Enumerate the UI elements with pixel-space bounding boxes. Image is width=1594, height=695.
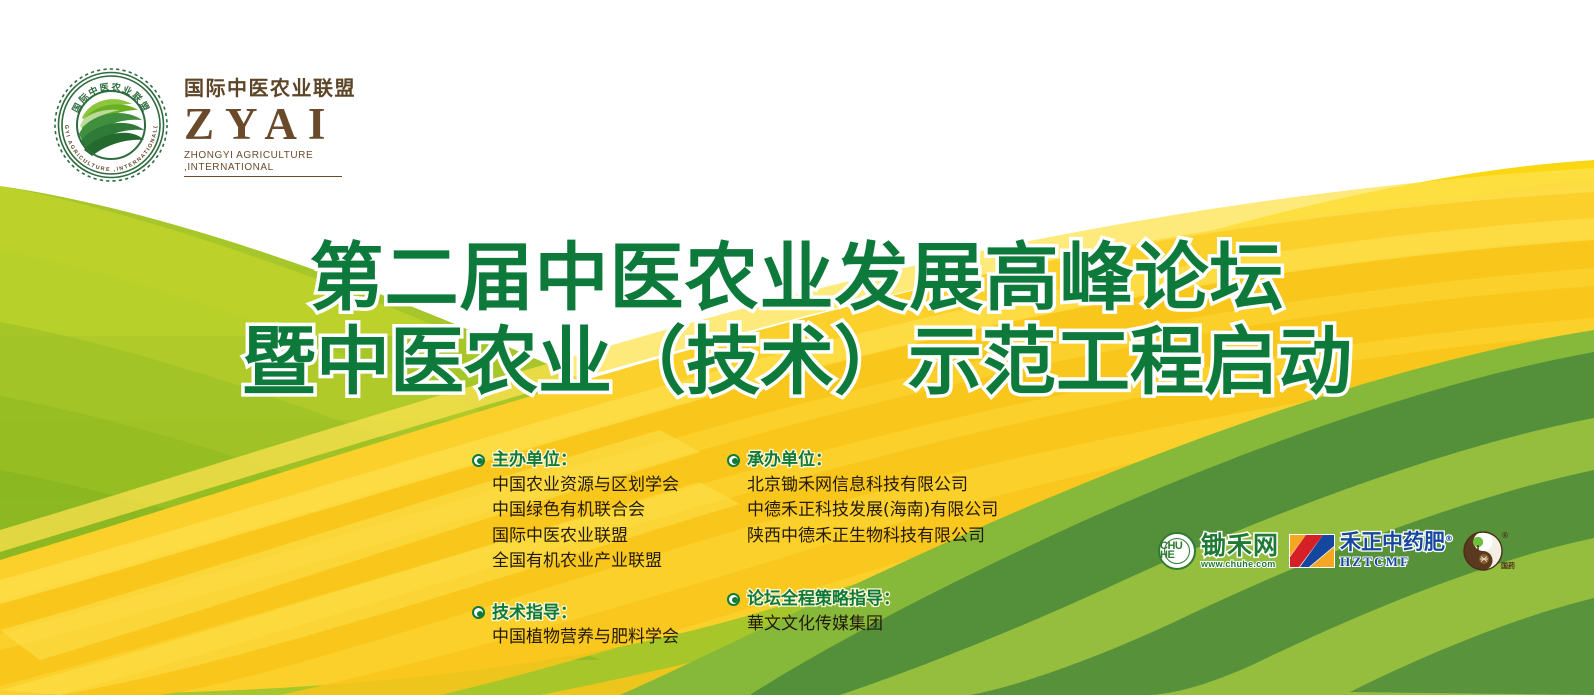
info-item: 中国绿色有机联合会 [492, 498, 679, 524]
chuhe-name-cn: 锄禾网 [1201, 533, 1279, 558]
chuhe-seal-icon: CHU HE [1158, 532, 1196, 570]
spacer [727, 563, 998, 575]
bullet-icon [727, 593, 740, 606]
info-heading-text: 承办单位： [747, 448, 832, 473]
logo-name-en: ZHONGYI AGRICULTURE ,INTERNATIONAL [184, 150, 342, 177]
info-item: 北京锄禾网信息科技有限公司 [747, 473, 998, 499]
hztcmf-cn-text: 禾正中药肥 [1340, 530, 1445, 554]
bullet-icon [727, 454, 740, 467]
event-banner: 国际中医农业联盟 ZHONGYI AGRICULTURE ,INTERNATIO… [0, 0, 1594, 695]
bullet-icon [472, 454, 485, 467]
info-item: 華文文化传媒集团 [747, 612, 998, 638]
chuhe-seal-letters: CHU HE [1160, 534, 1194, 568]
info-heading-text: 技术指导： [492, 601, 577, 626]
hztcmf-mark-icon [1289, 534, 1335, 568]
sponsor-hztcmf: 禾正中药肥® HZTCMF [1289, 532, 1453, 570]
hztcmf-name-cn: 禾正中药肥® [1340, 532, 1453, 553]
info-group-heading: 技术指导： [472, 601, 679, 626]
chuhe-url: www.chuhe.com [1201, 559, 1279, 569]
info-group: 承办单位： 北京锄禾网信息科技有限公司 中德禾正科技发展(海南)有限公司 陕西中… [727, 448, 998, 549]
info-item: 中国植物营养与肥料学会 [492, 625, 679, 651]
info-heading-text: 论坛全程策略指导： [747, 587, 900, 612]
info-item: 国际中医农业联盟 [492, 524, 679, 550]
info-group-heading: 承办单位： [727, 448, 998, 473]
info-group-heading: 论坛全程策略指导： [727, 587, 998, 612]
logo-wordmark: 国际中医农业联盟 ZYAI ZHONGYI AGRICULTURE ,INTER… [184, 74, 356, 177]
sponsor-chuhe: CHU HE 锄禾网 www.chuhe.com [1158, 532, 1279, 570]
tree-seal-tag: 国药 [1501, 561, 1515, 571]
info-column-right: 承办单位： 北京锄禾网信息科技有限公司 中德禾正科技发展(海南)有限公司 陕西中… [727, 448, 998, 651]
info-column-left: 主办单位： 中国农业资源与区划学会 中国绿色有机联合会 国际中医农业联盟 全国有… [472, 448, 679, 651]
info-item: 中国农业资源与区划学会 [492, 473, 679, 499]
chuhe-wordmark: 锄禾网 www.chuhe.com [1201, 533, 1279, 569]
logo-name-cn: 国际中医农业联盟 [184, 78, 356, 100]
bullet-icon [472, 606, 485, 619]
spacer [727, 575, 998, 587]
info-item: 中德禾正科技发展(海南)有限公司 [747, 498, 998, 524]
info-group: 主办单位： 中国农业资源与区划学会 中国绿色有机联合会 国际中医农业联盟 全国有… [472, 448, 679, 575]
registered-mark: ® [1445, 534, 1453, 543]
organizer-info: 主办单位： 中国农业资源与区划学会 中国绿色有机联合会 国际中医农业联盟 全国有… [472, 448, 998, 651]
info-group-heading: 主办单位： [472, 448, 679, 473]
zyai-seal-icon: 国际中医农业联盟 ZHONGYI AGRICULTURE ,INTERNATIO… [52, 66, 170, 184]
sponsor-tree-seal: ® 国药 [1463, 531, 1503, 571]
registered-mark: ® [1502, 531, 1508, 540]
info-item: 陕西中德禾正生物科技有限公司 [747, 524, 998, 550]
spacer [472, 589, 679, 601]
info-group: 论坛全程策略指导： 華文文化传媒集团 [727, 587, 998, 637]
sponsor-logo-row: CHU HE 锄禾网 www.chuhe.com 禾正中药肥® HZTCMF [1158, 531, 1503, 571]
hztcmf-name-en: HZTCMF [1340, 554, 1453, 570]
organization-logo: 国际中医农业联盟 ZHONGYI AGRICULTURE ,INTERNATIO… [52, 66, 356, 184]
logo-acronym: ZYAI [184, 102, 356, 147]
info-heading-text: 主办单位： [492, 448, 577, 473]
info-group: 技术指导： 中国植物营养与肥料学会 [472, 601, 679, 651]
info-item: 全国有机农业产业联盟 [492, 549, 679, 575]
hztcmf-wordmark: 禾正中药肥® HZTCMF [1340, 532, 1453, 570]
